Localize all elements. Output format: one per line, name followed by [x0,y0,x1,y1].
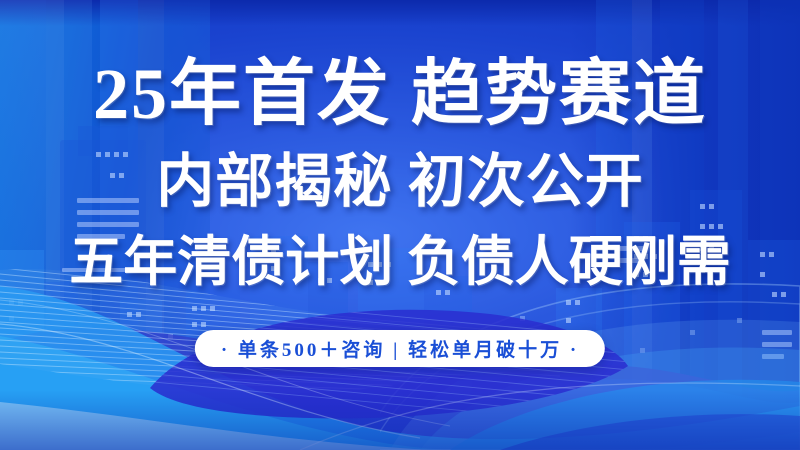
poster-canvas: 25年首发 趋势赛道 内部揭秘 初次公开 五年清债计划 负债人硬刚需 · 单条5… [0,0,800,450]
headline-line-3: 五年清债计划 负债人硬刚需 [0,230,800,294]
headline-line-2: 内部揭秘 初次公开 [0,148,800,216]
tagline-badge-text: · 单条500＋咨询 | 轻松单月破十万 · [221,335,579,362]
headline-line-1: 25年首发 趋势赛道 [0,52,800,136]
poster-content: 25年首发 趋势赛道 内部揭秘 初次公开 五年清债计划 负债人硬刚需 · 单条5… [0,0,800,450]
tagline-badge: · 单条500＋咨询 | 轻松单月破十万 · [195,330,605,367]
